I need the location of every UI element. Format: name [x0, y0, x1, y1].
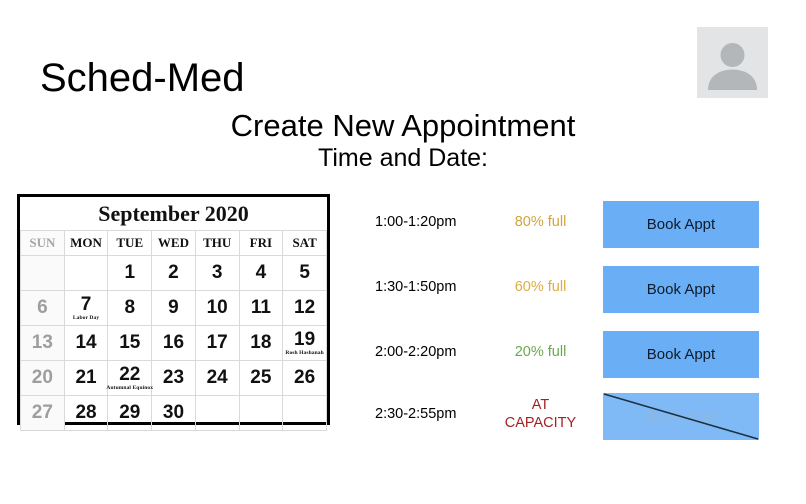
calendar-day-cell[interactable]: 14: [64, 326, 108, 361]
calendar-day-cell[interactable]: 15: [108, 326, 152, 361]
calendar-day-cell[interactable]: 11: [239, 291, 283, 326]
calendar-day-cell[interactable]: 5: [283, 256, 327, 291]
calendar-day-cell-content: 5: [283, 256, 326, 290]
calendar-day-cell[interactable]: 6: [21, 291, 65, 326]
calendar-day-number: 18: [250, 333, 271, 353]
calendar-day-cell-content: 9: [152, 291, 195, 325]
calendar-day-cell-content: 6: [21, 291, 64, 325]
calendar-day-event-label: Labor Day: [73, 315, 99, 322]
calendar-day-cell-empty: [239, 396, 283, 431]
calendar-day-header-tue: TUE: [108, 231, 152, 256]
calendar-day-cell-content: 29: [108, 396, 151, 430]
calendar-day-header-mon: MON: [64, 231, 108, 256]
calendar-day-cell[interactable]: 28: [64, 396, 108, 431]
calendar-day-cell-content: 22Autumnal Equinox: [108, 361, 151, 395]
calendar-day-number: 28: [75, 403, 96, 423]
calendar-day-cell[interactable]: 9: [152, 291, 196, 326]
calendar-day-cell[interactable]: 4: [239, 256, 283, 291]
calendar-day-cell-content: 16: [152, 326, 195, 360]
section-subtitle: Time and Date:: [0, 143, 806, 173]
time-slot-label: 2:30-2:55pm: [375, 390, 485, 438]
time-slot-label: 1:00-1:20pm: [375, 198, 485, 246]
calendar-day-header-fri: FRI: [239, 231, 283, 256]
calendar-day-cell-content: 21: [65, 361, 108, 395]
calendar-day-cell-content: [196, 396, 239, 430]
calendar-day-cell-content: [240, 396, 283, 430]
calendar-day-cell-content: 18: [240, 326, 283, 360]
calendar-day-cell-content: 14: [65, 326, 108, 360]
calendar-day-cell-content: 23: [152, 361, 195, 395]
calendar-day-number: 4: [256, 263, 267, 283]
book-appointment-button[interactable]: Book Appt: [603, 266, 759, 313]
calendar-grid: SUN MON TUE WED THU FRI SAT 1234567Labor…: [20, 230, 327, 431]
calendar-day-cell-content: 15: [108, 326, 151, 360]
calendar-day-cell-content: 7Labor Day: [65, 291, 108, 325]
calendar-day-cell[interactable]: 25: [239, 361, 283, 396]
calendar-day-cell[interactable]: 27: [21, 396, 65, 431]
book-appointment-button[interactable]: Book Appt: [603, 201, 759, 248]
time-slot-row: 2:00-2:20pm20% fullBook Appt: [370, 328, 770, 376]
calendar-day-header-wed: WED: [152, 231, 196, 256]
calendar-week-row: 67Labor Day89101112: [21, 291, 327, 326]
calendar-day-header-sun: SUN: [21, 231, 65, 256]
calendar-day-cell[interactable]: 2: [152, 256, 196, 291]
calendar-week-row: 202122Autumnal Equinox23242526: [21, 361, 327, 396]
calendar-day-number: 13: [32, 333, 53, 353]
calendar-day-cell[interactable]: 23: [152, 361, 196, 396]
calendar-day-cell-content: 24: [196, 361, 239, 395]
calendar-day-cell[interactable]: 21: [64, 361, 108, 396]
calendar-day-cell[interactable]: 3: [195, 256, 239, 291]
calendar-day-number: 27: [32, 403, 53, 423]
calendar-day-number: 17: [207, 333, 228, 353]
calendar-day-number: 1: [124, 263, 135, 283]
calendar-day-header-sat: SAT: [283, 231, 327, 256]
calendar-day-number: 8: [124, 298, 135, 318]
page-title: Create New Appointment: [0, 108, 806, 144]
calendar-day-cell-empty: [195, 396, 239, 431]
calendar-day-cell[interactable]: 1: [108, 256, 152, 291]
calendar-day-cell-content: 17: [196, 326, 239, 360]
calendar-day-cell-content: 4: [240, 256, 283, 290]
calendar-day-number: 3: [212, 263, 223, 283]
capacity-status-badge: 60% full: [488, 263, 593, 311]
calendar-day-cell-content: 27: [21, 396, 64, 430]
calendar-day-number: 22: [119, 365, 140, 385]
calendar-body: 1234567Labor Day8910111213141516171819Ro…: [21, 256, 327, 431]
calendar-day-cell-content: [21, 256, 64, 290]
calendar-day-number: 23: [163, 368, 184, 388]
calendar-day-cell[interactable]: 16: [152, 326, 196, 361]
calendar-day-number: 15: [119, 333, 140, 353]
calendar-day-number: 14: [75, 333, 96, 353]
calendar-day-cell-content: 13: [21, 326, 64, 360]
time-slot-row: 1:30-1:50pm60% fullBook Appt: [370, 263, 770, 311]
calendar-header-row: SUN MON TUE WED THU FRI SAT: [21, 231, 327, 256]
calendar-day-number: 11: [251, 298, 271, 318]
calendar-month-title: September 2020: [20, 197, 327, 230]
calendar-week-row: 27282930: [21, 396, 327, 431]
calendar-day-number: 9: [168, 298, 179, 318]
calendar-day-cell-content: 26: [283, 361, 326, 395]
time-slot-label: 1:30-1:50pm: [375, 263, 485, 311]
calendar-day-cell-content: 25: [240, 361, 283, 395]
calendar-day-number: 24: [207, 368, 228, 388]
calendar-day-cell-content: 3: [196, 256, 239, 290]
calendar-day-cell-empty: [21, 256, 65, 291]
calendar-day-cell-content: 10: [196, 291, 239, 325]
calendar-day-cell[interactable]: 13: [21, 326, 65, 361]
calendar-day-cell[interactable]: 30: [152, 396, 196, 431]
calendar-week-row: 12345: [21, 256, 327, 291]
user-avatar-icon: [697, 27, 768, 98]
calendar-day-cell-content: 28: [65, 396, 108, 430]
calendar-day-cell-content: 2: [152, 256, 195, 290]
calendar-day-cell[interactable]: 18: [239, 326, 283, 361]
calendar-day-cell-content: 11: [240, 291, 283, 325]
calendar-day-cell[interactable]: 26: [283, 361, 327, 396]
calendar-day-number: 19: [294, 330, 315, 350]
calendar-day-cell-content: [65, 256, 108, 290]
calendar-day-number: 10: [207, 298, 228, 318]
brand-title: Sched-Med: [40, 55, 245, 101]
calendar-day-cell[interactable]: 24: [195, 361, 239, 396]
calendar-day-cell[interactable]: 7Labor Day: [64, 291, 108, 326]
calendar-day-cell[interactable]: 17: [195, 326, 239, 361]
month-calendar[interactable]: September 2020 SUN MON TUE WED THU FRI S…: [17, 194, 330, 425]
calendar-day-header-thu: THU: [195, 231, 239, 256]
user-avatar[interactable]: [697, 27, 768, 98]
book-appointment-button[interactable]: Book Appt: [603, 331, 759, 378]
time-slot-row: 2:30-2:55pmAT CAPACITYBook Appt: [370, 390, 770, 438]
calendar-day-number: 5: [299, 263, 310, 283]
time-slot-label: 2:00-2:20pm: [375, 328, 485, 376]
calendar-day-cell-content: 19Rosh Hashanah: [283, 326, 326, 360]
calendar-day-number: 20: [32, 368, 53, 388]
time-slot-row: 1:00-1:20pm80% fullBook Appt: [370, 198, 770, 246]
calendar-day-cell-content: 12: [283, 291, 326, 325]
calendar-day-cell[interactable]: 22Autumnal Equinox: [108, 361, 152, 396]
calendar-day-cell[interactable]: 20: [21, 361, 65, 396]
calendar-day-cell[interactable]: 10: [195, 291, 239, 326]
book-appointment-button-disabled: Book Appt: [603, 393, 759, 440]
calendar-day-number: 7: [81, 295, 92, 315]
appointment-scheduler-screen: Sched-Med Create New Appointment Time an…: [0, 0, 806, 504]
calendar-day-number: 21: [75, 368, 96, 388]
calendar-day-cell-content: 1: [108, 256, 151, 290]
capacity-status-badge: 20% full: [488, 328, 593, 376]
capacity-status-badge: AT CAPACITY: [488, 390, 593, 438]
calendar-day-cell[interactable]: 8: [108, 291, 152, 326]
calendar-day-number: 25: [250, 368, 271, 388]
capacity-status-badge: 80% full: [488, 198, 593, 246]
calendar-day-cell-content: 8: [108, 291, 151, 325]
calendar-day-number: 6: [37, 298, 48, 318]
calendar-day-cell-empty: [64, 256, 108, 291]
calendar-day-cell-empty: [283, 396, 327, 431]
calendar-day-cell-content: [283, 396, 326, 430]
calendar-day-cell[interactable]: 29: [108, 396, 152, 431]
calendar-day-number: 2: [168, 263, 179, 283]
calendar-week-row: 13141516171819Rosh Hashanah: [21, 326, 327, 361]
calendar-day-number: 12: [294, 298, 315, 318]
calendar-day-cell-content: 30: [152, 396, 195, 430]
calendar-day-number: 16: [163, 333, 184, 353]
calendar-day-event-label: Autumnal Equinox: [106, 385, 153, 392]
calendar-day-cell[interactable]: 12: [283, 291, 327, 326]
calendar-day-number: 30: [163, 403, 184, 423]
calendar-day-cell[interactable]: 19Rosh Hashanah: [283, 326, 327, 361]
calendar-day-number: 26: [294, 368, 315, 388]
calendar-day-number: 29: [119, 403, 140, 423]
calendar-day-event-label: Rosh Hashanah: [285, 350, 323, 357]
calendar-day-cell-content: 20: [21, 361, 64, 395]
